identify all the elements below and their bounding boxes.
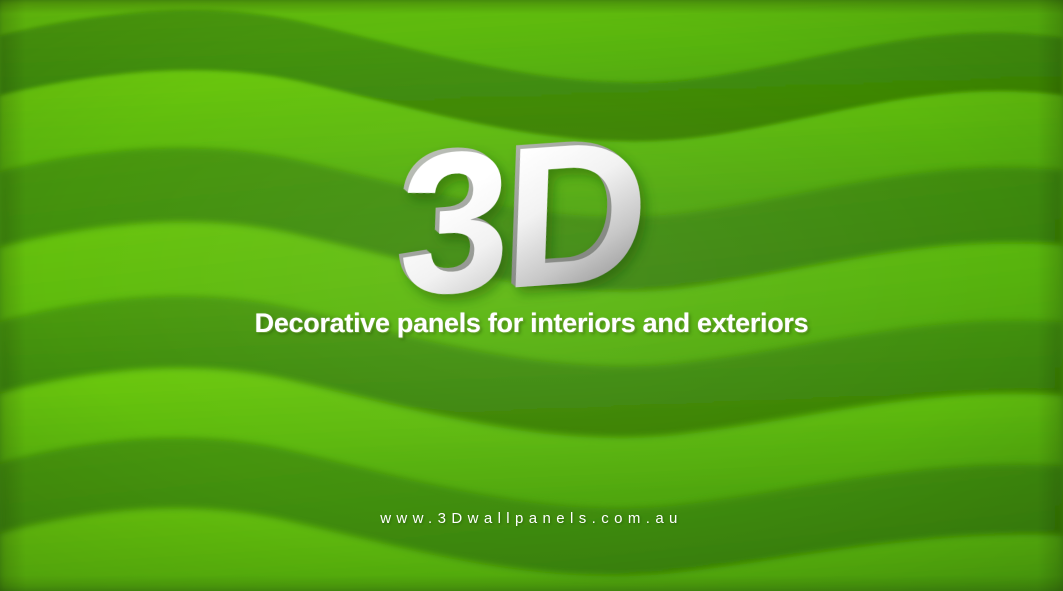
logo-3d-svg: 3D 3D 3D 3D 3D <box>322 118 742 328</box>
svg-text:3D: 3D <box>392 94 643 335</box>
banner-content: 3D 3D 3D 3D 3D Decorative panels for int… <box>0 0 1063 591</box>
logo-3d-text: 3D <box>395 97 646 338</box>
logo-3d: 3D 3D 3D 3D 3D <box>0 118 1063 332</box>
svg-text:3D: 3D <box>394 96 645 337</box>
tagline: Decorative panels for interiors and exte… <box>0 308 1063 339</box>
svg-text:3D: 3D <box>391 93 642 334</box>
promo-banner: 3D 3D 3D 3D 3D Decorative panels for int… <box>0 0 1063 591</box>
svg-text:3D: 3D <box>393 95 644 336</box>
website-url[interactable]: www.3Dwallpanels.com.au <box>0 510 1063 527</box>
